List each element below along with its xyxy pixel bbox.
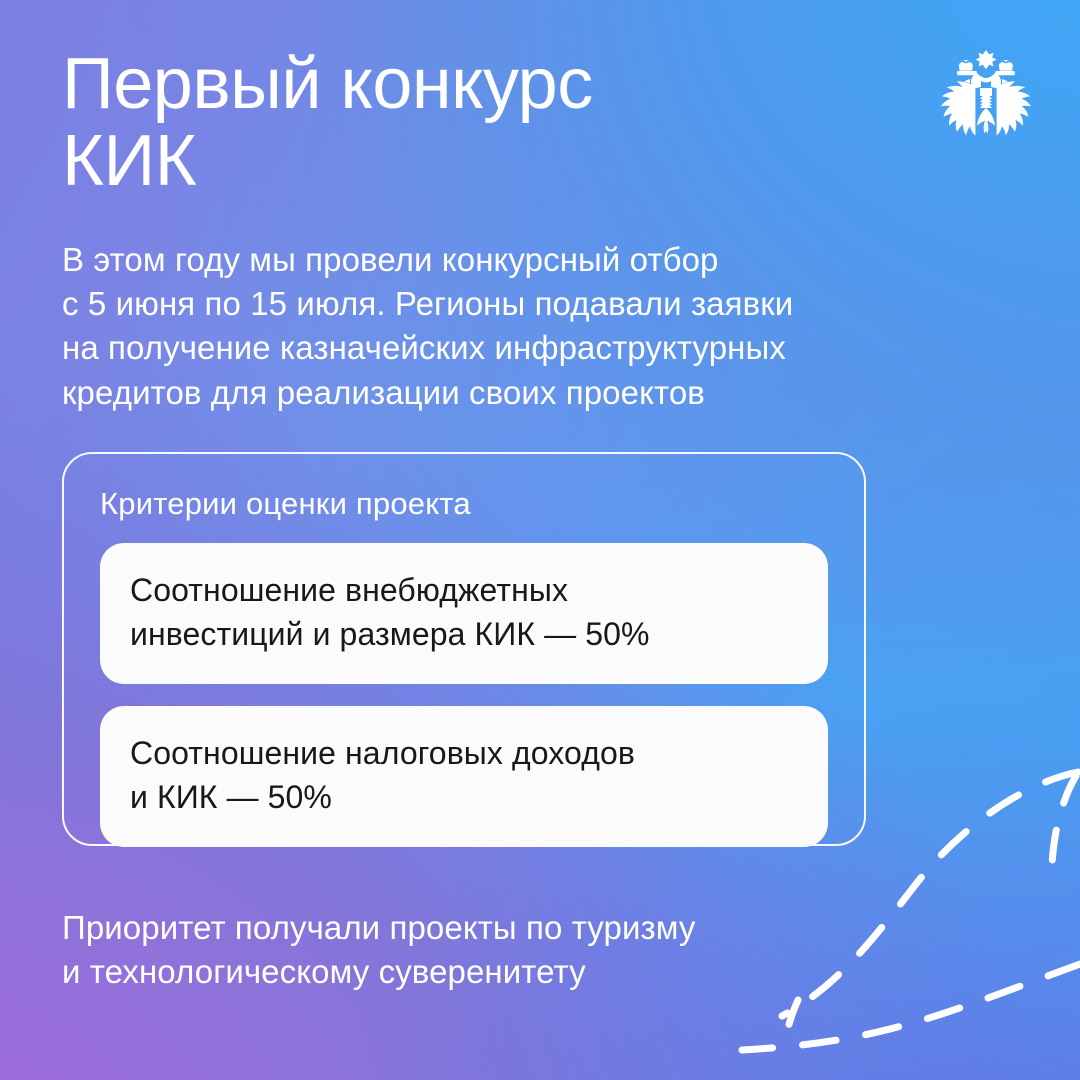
intro-paragraph: В этом году мы провели конкурсный отбор … <box>62 238 992 415</box>
criteria-card-heading: Критерии оценки проекта <box>100 486 828 522</box>
slide-content: Первый конкурс КИК В этом году мы провел… <box>0 0 1080 1080</box>
criterion-pill: Соотношение внебюджетных инвестиций и ра… <box>100 543 828 684</box>
slide-canvas: Первый конкурс КИК В этом году мы провел… <box>0 0 1080 1080</box>
criteria-card: Критерии оценки проекта Соотношение внеб… <box>62 452 866 846</box>
footnote-paragraph: Приоритет получали проекты по туризму и … <box>62 906 942 994</box>
page-title: Первый конкурс КИК <box>62 46 762 200</box>
criterion-pill: Соотношение налоговых доходов и КИК — 50… <box>100 706 828 847</box>
